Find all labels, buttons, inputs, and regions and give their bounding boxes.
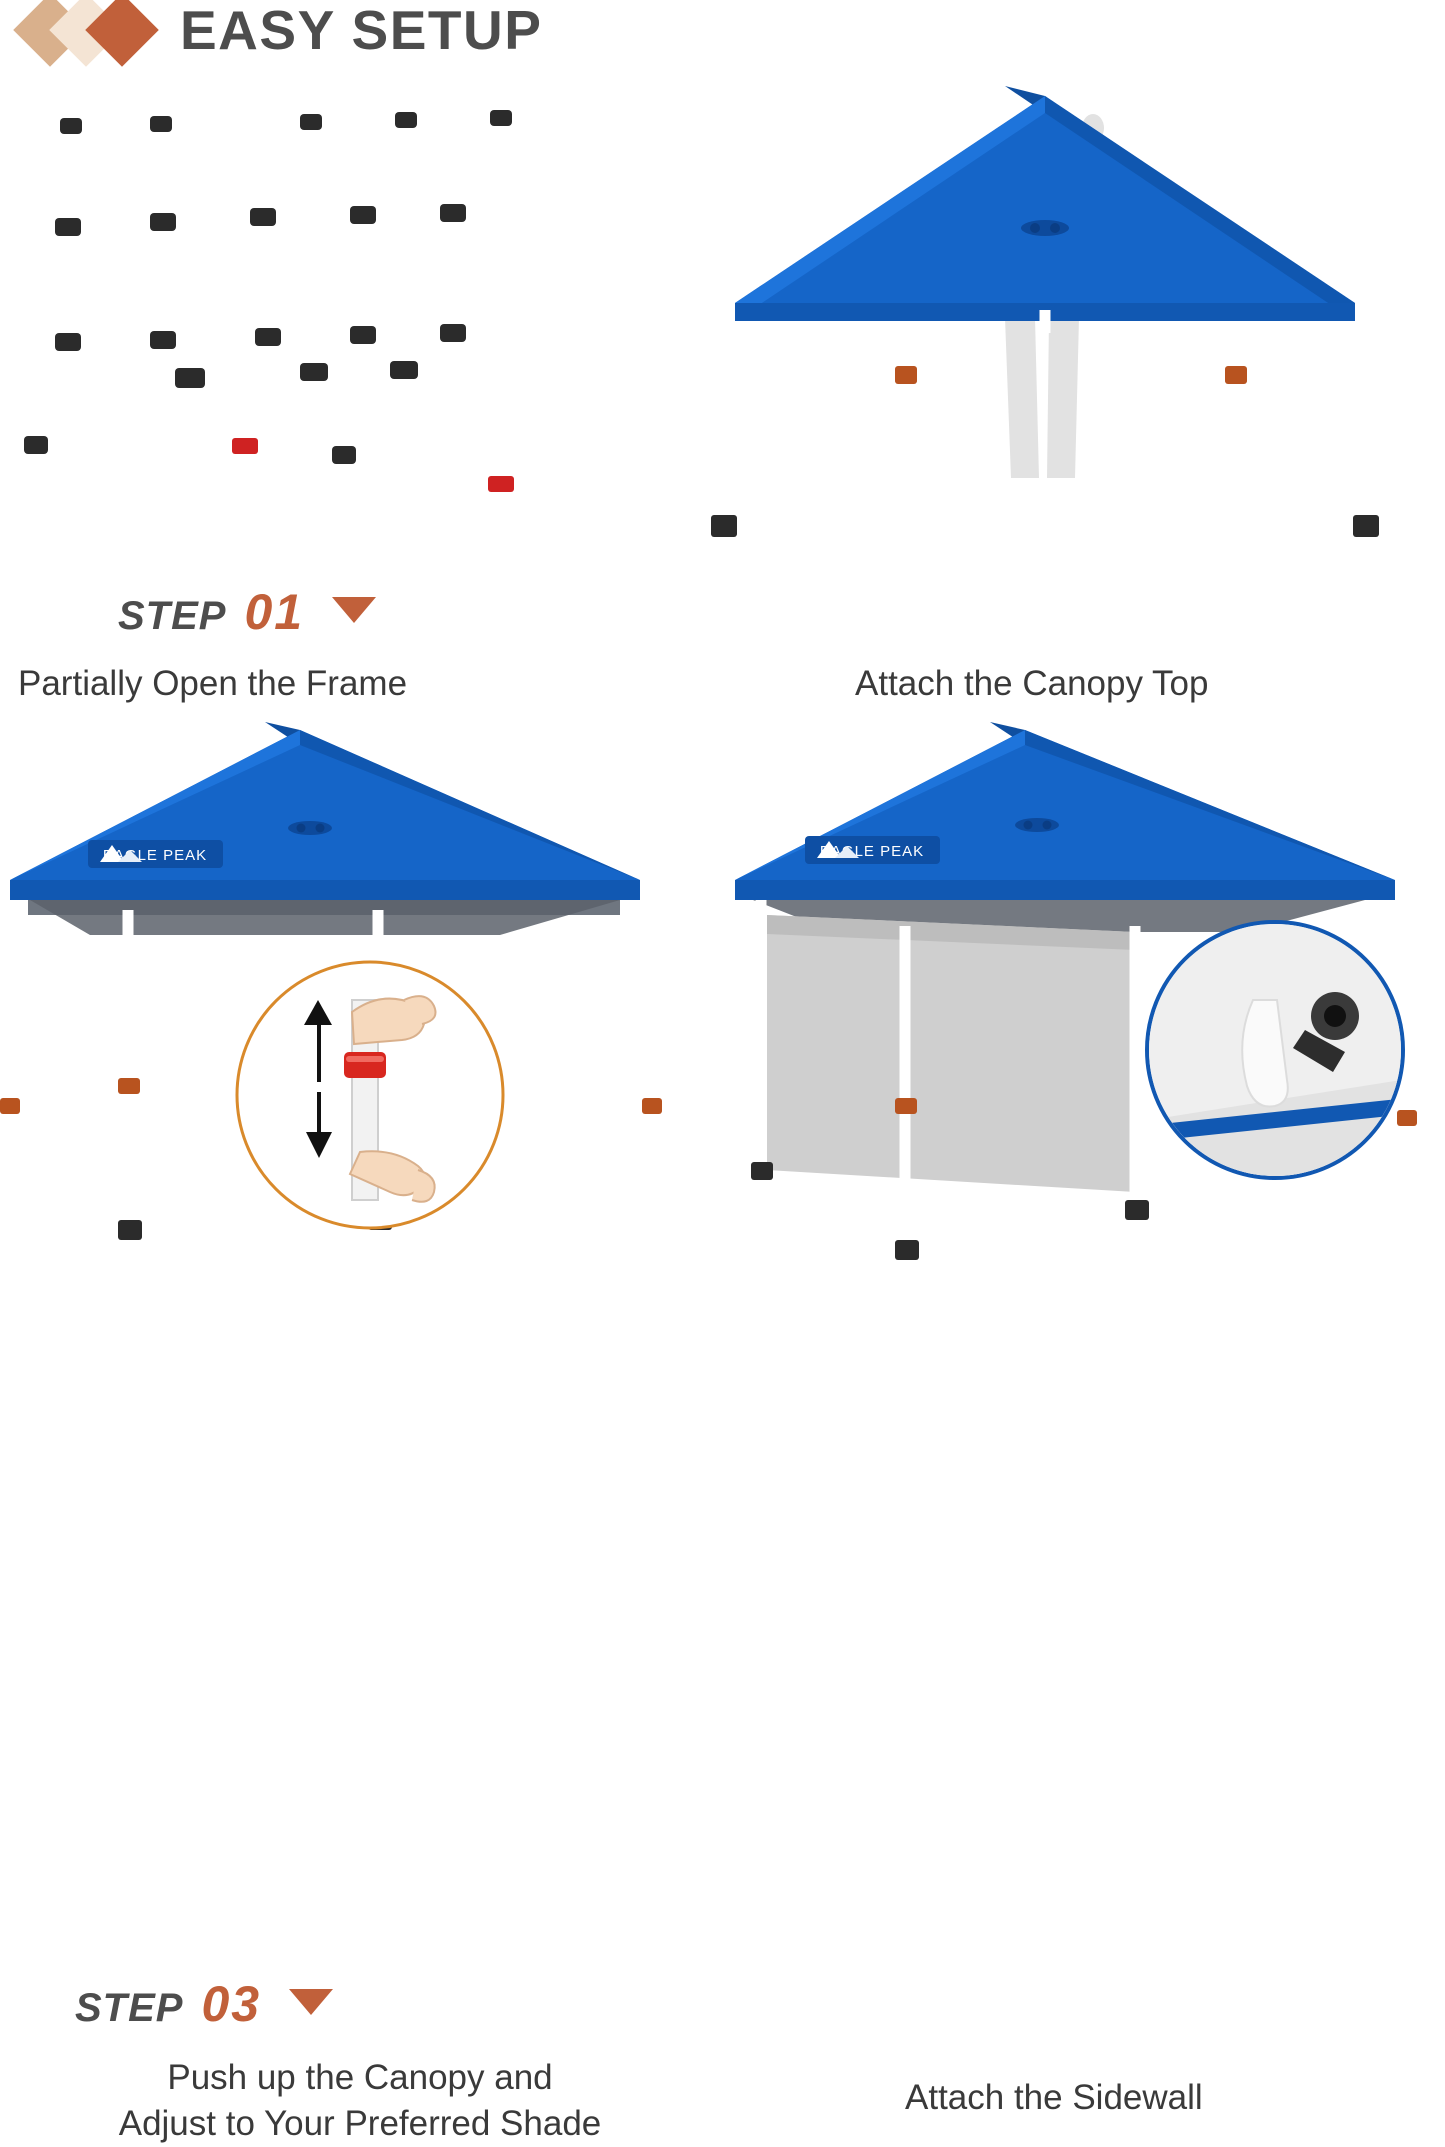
step-panel-4: EAGLE PEAK — [705, 700, 1445, 1455]
step-number-3: 03 — [201, 1976, 261, 2032]
step-panel-3: EAGLE PEAK — [0, 700, 700, 1455]
step-label-1: STEP01 — [118, 583, 376, 641]
step-word-1: STEP — [118, 594, 226, 638]
step-panel-1: STEP01 Partially Open the Frame — [0, 78, 700, 718]
page-title: EASY SETUP — [180, 0, 542, 62]
canopy-top-illustration — [705, 78, 1445, 548]
step-panel-2: STEP02 Attach the Canopy Top — [705, 78, 1445, 718]
step-caption-3-line1: Push up the Canopy and — [20, 2055, 700, 2101]
step-caption-3: Push up the Canopy and Adjust to Your Pr… — [20, 2055, 700, 2147]
step-caption-3-line2: Adjust to Your Preferred Shade — [20, 2101, 700, 2147]
canopy-sidewall-illustration: EAGLE PEAK — [705, 700, 1445, 1280]
triangle-down-icon-1 — [332, 597, 376, 623]
step-label-3: STEP03 — [75, 1975, 333, 2033]
step-number-1: 01 — [244, 584, 304, 640]
three-diamonds-logo-icon — [20, 0, 160, 62]
header: EASY SETUP — [0, 0, 1445, 70]
step-caption-4: Attach the Sidewall — [905, 2075, 1445, 2121]
canopy-push-up-illustration: EAGLE PEAK — [0, 700, 700, 1260]
folded-canopy-frame-illustration — [0, 78, 700, 548]
triangle-down-icon-3 — [289, 1989, 333, 2015]
step-word-3: STEP — [75, 1986, 183, 2030]
